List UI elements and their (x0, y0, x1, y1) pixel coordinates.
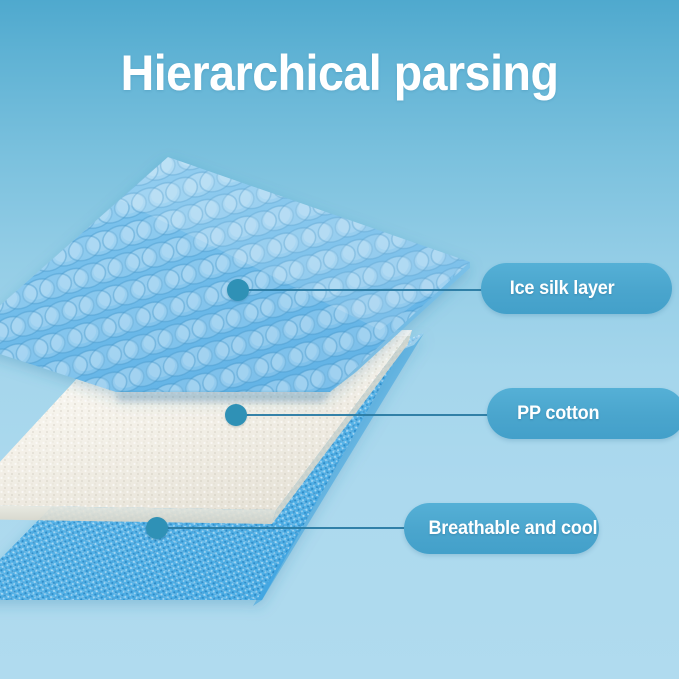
product-infographic: Hierarchical parsing Ice silk layer PP c… (0, 0, 679, 679)
callout-pill-breathable[interactable]: Breathable and cool (404, 503, 599, 554)
callout-label-ice-silk: Ice silk layer (510, 278, 615, 300)
page-title: Hierarchical parsing (24, 44, 655, 102)
callout-line-ice-silk (238, 289, 488, 291)
callout-pill-ice-silk[interactable]: Ice silk layer (481, 263, 672, 314)
callout-line-breathable (157, 527, 415, 529)
callout-pill-pp-cotton[interactable]: PP cotton (487, 388, 679, 439)
callout-dot-pp-cotton[interactable] (225, 404, 247, 426)
callout-dot-breathable[interactable] (146, 517, 168, 539)
callout-label-breathable: Breathable and cool (428, 518, 597, 540)
callout-line-pp-cotton (236, 414, 494, 416)
callout-label-pp-cotton: PP cotton (517, 403, 599, 425)
callout-dot-ice-silk[interactable] (227, 279, 249, 301)
